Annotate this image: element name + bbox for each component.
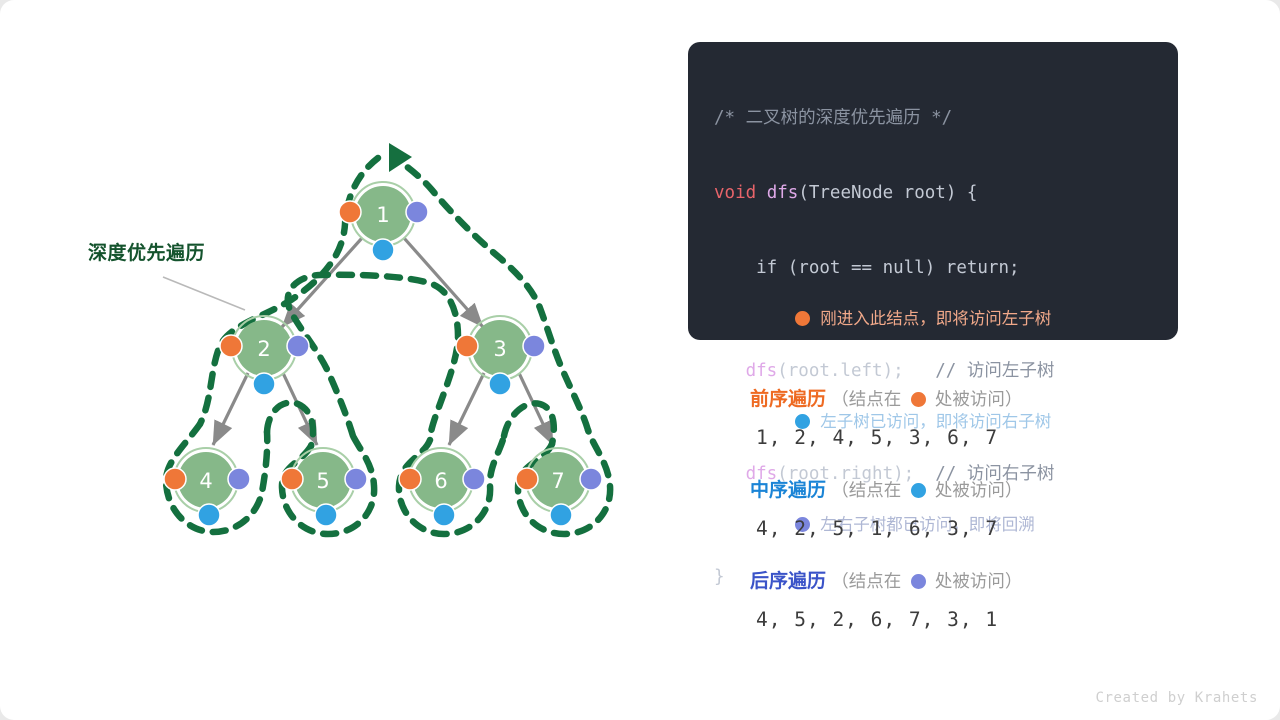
code-call-left-rest: (root.left);	[777, 361, 903, 381]
node-5-post-dot	[345, 468, 367, 490]
dfs-path-6-to-7	[504, 403, 554, 444]
tree-node-2[interactable]: 2	[220, 316, 309, 395]
node-6-post-dot	[463, 468, 485, 490]
inorder-legend-dot-icon	[911, 483, 926, 498]
code-guard-text: if (root == null) return;	[714, 258, 1020, 278]
figure-body: 1 2 3	[0, 0, 1280, 720]
node-4-post-dot	[228, 468, 250, 490]
node-4-pre-dot	[164, 468, 186, 490]
node-7-label: 7	[551, 469, 564, 493]
traversal-inorder: 中序遍历 （结点在 处被访问） 4, 2, 5, 1, 6, 3, 7	[750, 475, 1180, 552]
code-fn-dfs-left: dfs	[746, 361, 778, 381]
traversal-results: 前序遍历 （结点在 处被访问） 1, 2, 4, 5, 3, 6, 7 中序遍历…	[750, 384, 1180, 657]
node-3-post-dot	[523, 335, 545, 357]
node-1-in-dot	[372, 239, 394, 261]
traversal-postorder: 后序遍历 （结点在 处被访问） 4, 5, 2, 6, 7, 3, 1	[750, 566, 1180, 643]
traversal-inorder-paren-before: （结点在	[831, 480, 901, 500]
traversal-inorder-name: 中序遍历	[750, 480, 826, 501]
edge-2-4	[213, 373, 248, 445]
node-5-in-dot	[315, 504, 337, 526]
node-2-in-dot	[253, 373, 275, 395]
node-1-post-dot	[406, 201, 428, 223]
binary-tree-diagram: 1 2 3	[0, 0, 680, 720]
dfs-path-back-to-root	[288, 275, 458, 440]
node-6-in-dot	[433, 504, 455, 526]
node-5-label: 5	[316, 469, 329, 493]
traversal-inorder-sequence: 4, 2, 5, 1, 6, 3, 7	[750, 506, 1180, 552]
traversal-preorder-name: 前序遍历	[750, 389, 826, 410]
postorder-legend-dot-icon	[911, 574, 926, 589]
code-call-left-comment: // 访问左子树	[935, 361, 1054, 381]
caption-leader-line	[163, 277, 245, 310]
traversal-inorder-paren-after: 处被访问）	[935, 480, 1023, 500]
node-2-label: 2	[257, 337, 270, 361]
watermark: Created by Krahets	[1095, 690, 1258, 706]
node-1-pre-dot	[339, 201, 361, 223]
code-line-guard: if (root == null) return;	[714, 256, 1156, 281]
traversal-postorder-header: 后序遍历 （结点在 处被访问）	[750, 566, 1180, 597]
dfs-caption-label: 深度优先遍历	[88, 238, 205, 265]
traversal-preorder-header: 前序遍历 （结点在 处被访问）	[750, 384, 1180, 415]
code-line-call-left: dfs(root.left); // 访问左子树	[714, 359, 1156, 384]
node-6-pre-dot	[399, 468, 421, 490]
traversal-preorder-paren-after: 处被访问）	[935, 389, 1023, 409]
code-close-brace: }	[714, 567, 725, 587]
code-annotation-preorder: 刚进入此结点，即将访问左子树	[777, 306, 1051, 331]
traversal-postorder-sequence: 4, 5, 2, 6, 7, 3, 1	[750, 597, 1180, 643]
code-line-signature: void dfs(TreeNode root) {	[714, 181, 1156, 206]
node-3-label: 3	[493, 337, 506, 361]
traversal-postorder-paren-before: （结点在	[831, 571, 901, 591]
traversal-preorder-paren-before: （结点在	[831, 389, 901, 409]
code-comment-text: /* 二叉树的深度优先遍历 */	[714, 108, 952, 128]
code-annotation-preorder-text: 刚进入此结点，即将访问左子树	[820, 306, 1051, 331]
traversal-postorder-name: 后序遍历	[750, 571, 826, 592]
code-line-comment: /* 二叉树的深度优先遍历 */	[714, 106, 1156, 131]
code-fn-dfs: dfs	[767, 183, 799, 203]
traversal-preorder: 前序遍历 （结点在 处被访问） 1, 2, 4, 5, 3, 6, 7	[750, 384, 1180, 461]
code-card: /* 二叉树的深度优先遍历 */ void dfs(TreeNode root)…	[688, 42, 1178, 340]
node-7-pre-dot	[516, 468, 538, 490]
node-7-post-dot	[580, 468, 602, 490]
edge-3-6	[449, 373, 484, 445]
traversal-preorder-sequence: 1, 2, 4, 5, 3, 6, 7	[750, 415, 1180, 461]
figure-canvas: 1 2 3	[0, 0, 1280, 720]
tree-node-3[interactable]: 3	[456, 316, 545, 395]
node-3-pre-dot	[456, 335, 478, 357]
node-6-label: 6	[434, 469, 447, 493]
traversal-inorder-header: 中序遍历 （结点在 处被访问）	[750, 475, 1180, 506]
node-2-pre-dot	[220, 335, 242, 357]
preorder-legend-dot-icon	[911, 392, 926, 407]
node-7-in-dot	[550, 504, 572, 526]
preorder-dot-icon	[795, 311, 810, 326]
code-keyword-void: void	[714, 183, 756, 203]
code-signature-rest: (TreeNode root) {	[798, 183, 977, 203]
node-4-in-dot	[198, 504, 220, 526]
node-2-post-dot	[287, 335, 309, 357]
node-1-label: 1	[376, 203, 389, 227]
node-4-label: 4	[199, 469, 212, 493]
node-3-in-dot	[489, 373, 511, 395]
traversal-postorder-paren-after: 处被访问）	[935, 571, 1023, 591]
node-5-pre-dot	[281, 468, 303, 490]
